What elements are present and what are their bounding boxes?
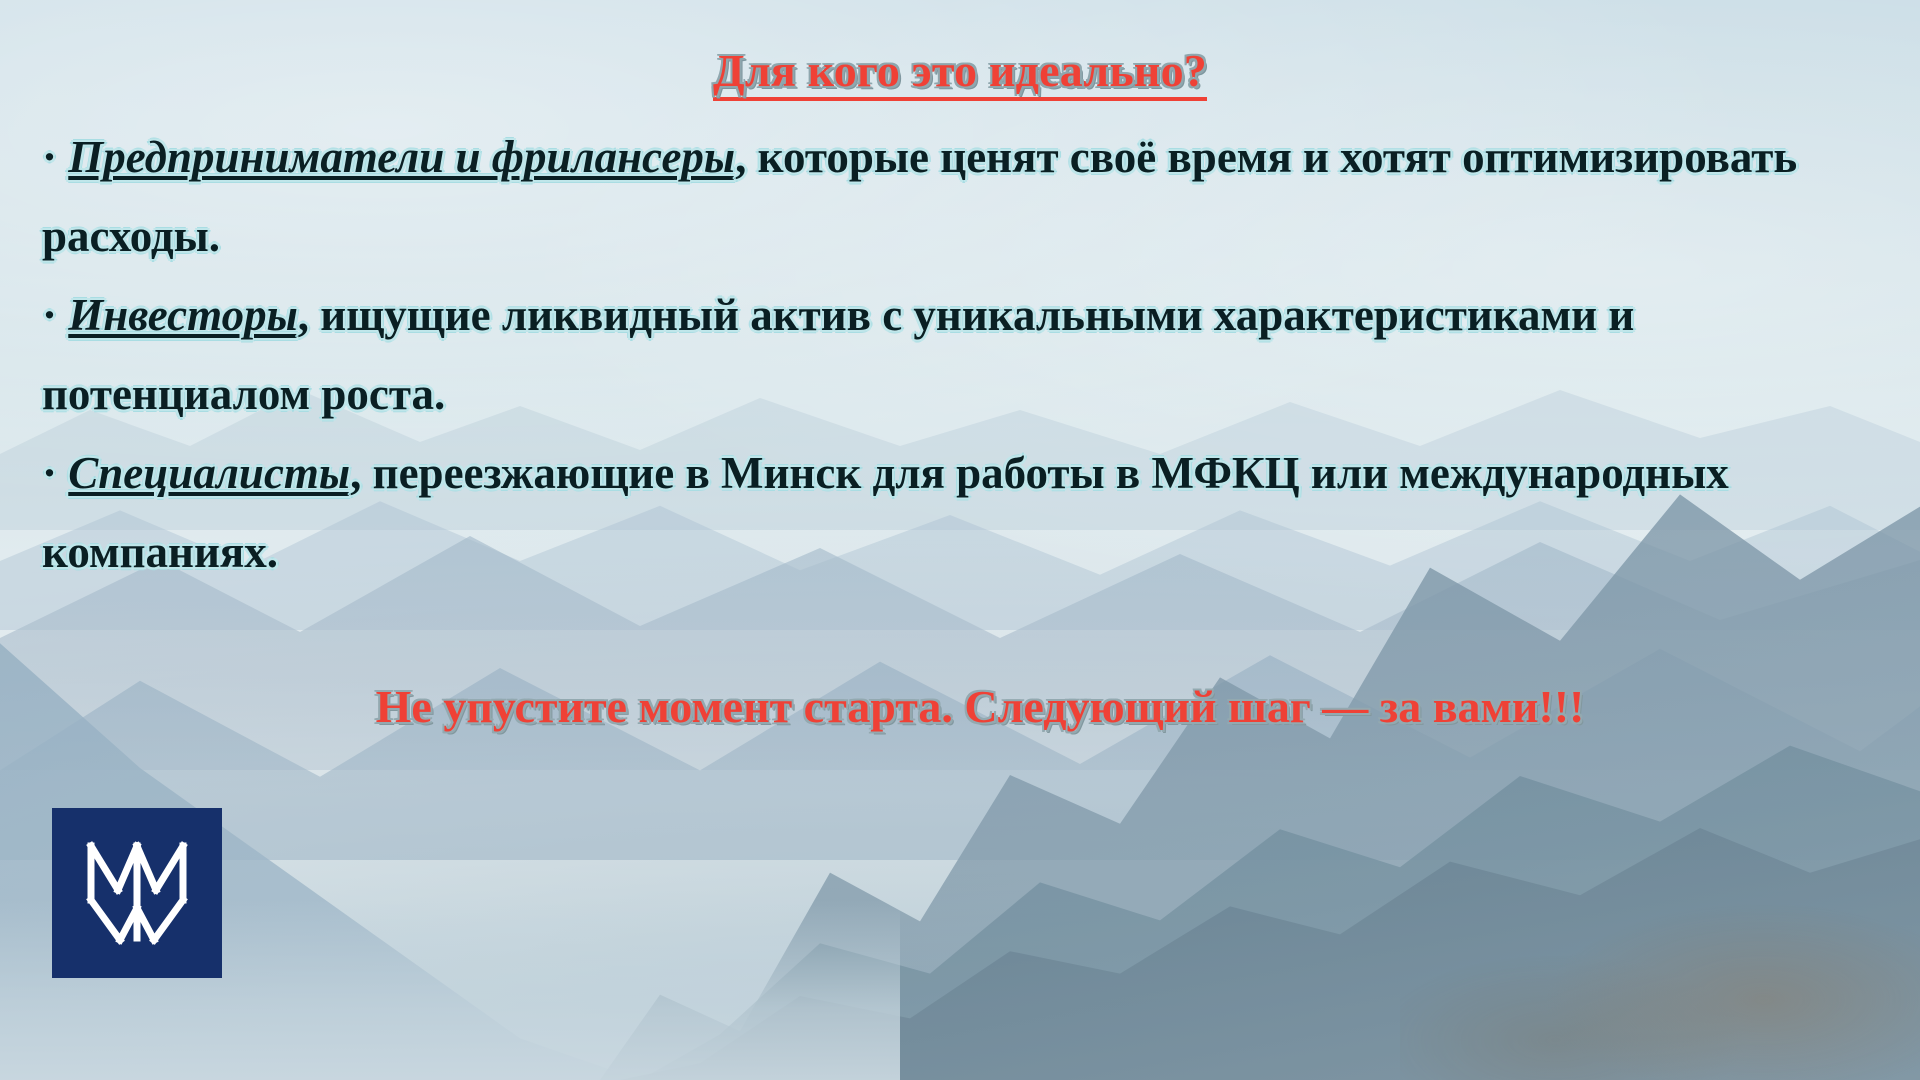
slide-title: Для кого это идеально? [0, 44, 1920, 97]
bullet-emphasis: Специалисты [68, 448, 350, 498]
bullet-emphasis: Предприниматели и фрилансеры [68, 132, 735, 182]
slide-title-text: Для кого это идеально? [713, 45, 1207, 101]
bullet-marker: · [42, 448, 57, 498]
mw-monogram-icon [77, 838, 197, 948]
bullet-marker: · [42, 132, 57, 182]
closing-callout-text: Не упустите момент старта. Следующий шаг… [376, 681, 1585, 732]
brand-logo [52, 808, 222, 978]
closing-callout: Не упустите момент старта. Следующий шаг… [0, 680, 1920, 733]
list-item: · Инвесторы, ищущие ликвидный актив с ун… [42, 276, 1882, 434]
bullet-emphasis: Инвесторы [68, 290, 298, 340]
list-item: · Предприниматели и фрилансеры, которые … [42, 118, 1882, 276]
list-item: · Специалисты, переезжающие в Минск для … [42, 434, 1882, 592]
slide-canvas: Для кого это идеально? · Предприниматели… [0, 0, 1920, 1080]
slide-content: Для кого это идеально? · Предприниматели… [0, 0, 1920, 1080]
bullet-list: · Предприниматели и фрилансеры, которые … [42, 118, 1882, 592]
bullet-marker: · [42, 290, 57, 340]
